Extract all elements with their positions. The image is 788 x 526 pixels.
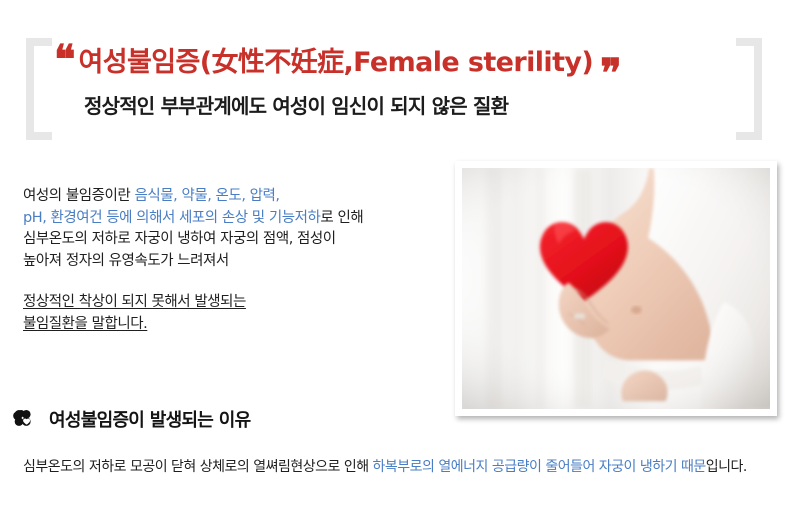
- bracket-left-decoration: [26, 38, 52, 140]
- bottom-part1: 심부온도의 저하로 모공이 닫혀 상체로의 열쎠림현상으로 인해: [23, 459, 373, 475]
- para1-line2-plain: 로 인해: [320, 210, 363, 226]
- para1-line2-highlight: pH, 환경여건 등에 의해서 세포의 손상 및 기능저하: [23, 210, 320, 226]
- para2-line2: 불임질환을 말합니다.: [23, 316, 147, 332]
- para1-line1-highlight: 음식물, 약물, 온도, 압력,: [134, 188, 279, 204]
- page-root: ❝ 여성불임증(女性不妊症,Female sterility) ❞ 정상적인 부…: [0, 0, 788, 526]
- title-row: ❝ 여성불임증(女性不妊症,Female sterility) ❞: [54, 40, 622, 94]
- para1-line4: 높아져 정자의 유영속도가 느려져서: [23, 253, 229, 269]
- body-text-column: 여성의 불임증이란 음식물, 약물, 온도, 압력, pH, 환경여건 등에 의…: [23, 186, 443, 335]
- clover-icon: [12, 408, 38, 430]
- para2-line1: 정상적인 착상이 되지 못해서 발생되는: [23, 294, 246, 310]
- section-heading-cause: 여성불임증이 발생되는 이유: [12, 406, 250, 432]
- page-subtitle: 정상적인 부부관계에도 여성이 임신이 되지 않은 질환: [84, 90, 508, 119]
- section-heading-label: 여성불임증이 발생되는 이유: [49, 406, 250, 432]
- paragraph-conclusion: 정상적인 착상이 되지 못해서 발생되는 불임질환을 말합니다.: [23, 292, 443, 335]
- page-title: 여성불임증(女性不妊症,Female sterility): [79, 46, 594, 80]
- para1-line3: 심부온도의 저하로 자궁이 냉하여 자궁의 점액, 점성이: [23, 231, 336, 247]
- paragraph-definition: 여성의 불임증이란 음식물, 약물, 온도, 압력, pH, 환경여건 등에 의…: [23, 186, 443, 272]
- bottom-part2-highlight: 하복부로의 열에너지 공급량이 줄어들어 자궁이 냉하기 때문: [373, 459, 706, 475]
- header-banner: ❝ 여성불임증(女性不妊症,Female sterility) ❞ 정상적인 부…: [26, 38, 762, 140]
- quote-close-icon: ❞: [600, 54, 622, 94]
- photo-pregnant-woman-heart: [462, 168, 770, 409]
- bottom-part3: 입니다.: [706, 459, 747, 475]
- paragraph-reason: 심부온도의 저하로 모공이 닫혀 상체로의 열쎠림현상으로 인해 하복부로의 열…: [23, 456, 773, 478]
- quote-open-icon: ❝: [54, 40, 76, 80]
- photo-frame: [455, 161, 777, 416]
- bracket-right-decoration: [736, 38, 762, 140]
- para1-line1-plain: 여성의 불임증이란: [23, 188, 134, 204]
